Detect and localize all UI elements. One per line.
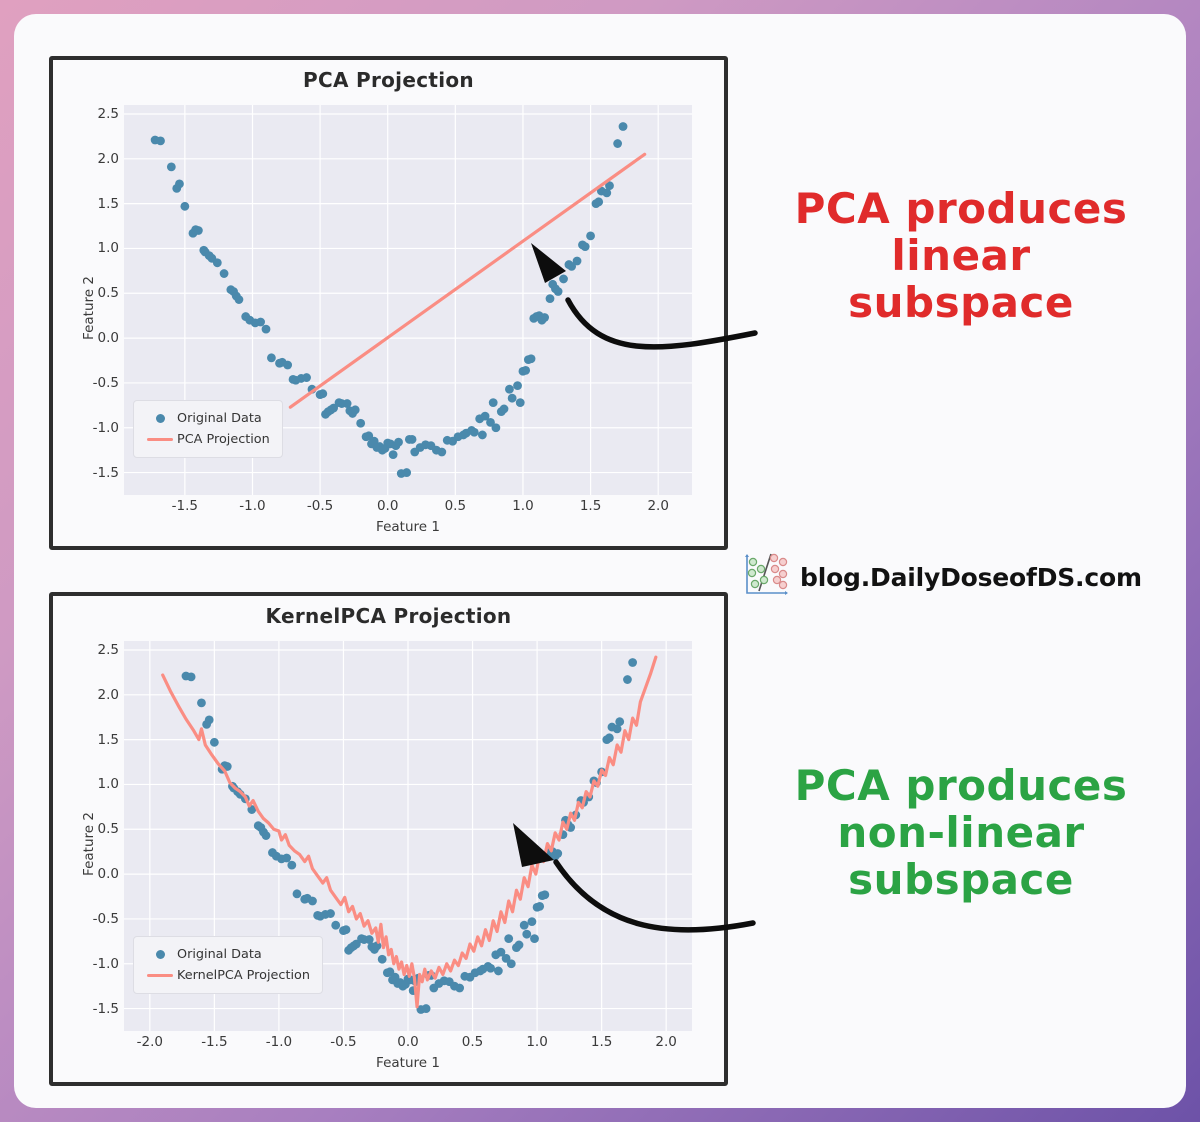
x-tick-label: -2.0 bbox=[120, 1034, 180, 1050]
data-point bbox=[573, 257, 582, 266]
data-point bbox=[180, 202, 189, 211]
pca-projection-chart-panel: PCA Projection Feature 2 2.52.01.51.00.5… bbox=[49, 56, 728, 550]
annotation-line: PCA produces bbox=[742, 185, 1180, 232]
annotation-line: non-linear bbox=[742, 809, 1180, 856]
legend-item: Original Data bbox=[143, 408, 270, 429]
y-tick-label: 0.0 bbox=[73, 330, 119, 346]
scatter-dot-icon bbox=[143, 414, 177, 423]
data-point bbox=[455, 984, 464, 993]
x-tick-label: 1.5 bbox=[572, 1034, 632, 1050]
line-swatch-icon bbox=[143, 438, 177, 441]
x-tick-label: 0.5 bbox=[443, 1034, 503, 1050]
data-point bbox=[628, 658, 637, 667]
x-tick-label: 0.0 bbox=[378, 1034, 438, 1050]
data-point bbox=[287, 861, 296, 870]
data-point bbox=[623, 675, 632, 684]
y-tick-label: 0.5 bbox=[73, 821, 119, 837]
data-point bbox=[594, 197, 603, 206]
x-tick-label: 0.5 bbox=[425, 498, 485, 514]
chart-title-kernelpca: KernelPCA Projection bbox=[53, 604, 724, 628]
projection-line bbox=[290, 154, 644, 407]
y-tick-label: 2.0 bbox=[73, 687, 119, 703]
data-point bbox=[521, 366, 530, 375]
data-point bbox=[326, 909, 335, 918]
data-point bbox=[220, 269, 229, 278]
x-axis-label-pca: Feature 1 bbox=[124, 519, 692, 535]
data-point bbox=[535, 902, 544, 911]
data-point bbox=[213, 258, 222, 267]
data-point bbox=[293, 889, 302, 898]
annotation-line: subspace bbox=[742, 279, 1180, 326]
y-axis-ticks-kernelpca: 2.52.01.51.00.50.0-0.5-1.0-1.5 bbox=[65, 641, 119, 1031]
watermark-text: blog.DailyDoseofDS.com bbox=[800, 563, 1142, 592]
legend-item: PCA Projection bbox=[143, 429, 270, 450]
data-point bbox=[187, 672, 196, 681]
data-point bbox=[515, 941, 524, 950]
y-tick-label: 1.5 bbox=[73, 196, 119, 212]
data-point bbox=[516, 398, 525, 407]
scatter-classifier-icon bbox=[742, 552, 790, 602]
legend-pca: Original Data PCA Projection bbox=[133, 400, 283, 458]
y-axis-ticks-pca: 2.52.01.51.00.50.0-0.5-1.0-1.5 bbox=[65, 105, 119, 495]
data-point bbox=[394, 438, 403, 447]
data-point bbox=[283, 361, 292, 370]
x-tick-label: 1.0 bbox=[493, 498, 553, 514]
legend-item: KernelPCA Projection bbox=[143, 965, 310, 986]
scatter-dot-icon bbox=[143, 950, 177, 959]
data-point bbox=[507, 959, 516, 968]
data-point bbox=[508, 394, 517, 403]
data-point bbox=[356, 419, 365, 428]
data-point bbox=[342, 925, 351, 934]
data-point bbox=[559, 275, 568, 284]
data-point bbox=[540, 890, 549, 899]
data-point bbox=[522, 930, 531, 939]
data-point bbox=[197, 698, 206, 707]
annotation-nonlinear-subspace: PCA producesnon-linearsubspace bbox=[742, 762, 1180, 903]
data-point bbox=[167, 162, 176, 171]
legend-label: Original Data bbox=[177, 411, 262, 426]
x-tick-label: -1.5 bbox=[155, 498, 215, 514]
data-point bbox=[505, 385, 514, 394]
y-tick-label: 1.0 bbox=[73, 240, 119, 256]
data-point bbox=[613, 139, 622, 148]
y-tick-label: -1.5 bbox=[73, 465, 119, 481]
legend-label: Original Data bbox=[177, 947, 262, 962]
line-swatch-icon bbox=[143, 974, 177, 977]
data-point bbox=[553, 849, 562, 858]
y-tick-label: 1.5 bbox=[73, 732, 119, 748]
data-point bbox=[605, 733, 614, 742]
data-point bbox=[262, 831, 271, 840]
data-point bbox=[378, 955, 387, 964]
data-point bbox=[586, 231, 595, 240]
annotation-line: PCA produces bbox=[742, 762, 1180, 809]
data-point bbox=[494, 967, 503, 976]
x-tick-label: -1.0 bbox=[222, 498, 282, 514]
data-point bbox=[500, 405, 509, 414]
data-point bbox=[492, 423, 501, 432]
y-tick-label: 2.0 bbox=[73, 151, 119, 167]
y-tick-label: 0.0 bbox=[73, 866, 119, 882]
x-tick-label: 2.0 bbox=[636, 1034, 696, 1050]
data-point bbox=[256, 318, 265, 327]
data-point bbox=[235, 295, 244, 304]
legend-kernelpca: Original Data KernelPCA Projection bbox=[133, 936, 323, 994]
data-point bbox=[308, 897, 317, 906]
chart-title-pca: PCA Projection bbox=[53, 68, 724, 92]
data-point bbox=[489, 398, 498, 407]
x-tick-label: -0.5 bbox=[290, 498, 350, 514]
x-axis-label-kernelpca: Feature 1 bbox=[124, 1055, 692, 1071]
data-point bbox=[267, 353, 276, 362]
data-point bbox=[156, 136, 165, 145]
y-tick-label: -1.0 bbox=[73, 420, 119, 436]
x-tick-label: -1.5 bbox=[184, 1034, 244, 1050]
data-point bbox=[527, 354, 536, 363]
legend-item: Original Data bbox=[143, 944, 310, 965]
x-tick-label: 1.0 bbox=[507, 1034, 567, 1050]
data-point bbox=[554, 287, 563, 296]
x-tick-label: -0.5 bbox=[313, 1034, 373, 1050]
y-tick-label: -0.5 bbox=[73, 911, 119, 927]
data-point bbox=[262, 325, 271, 334]
data-point bbox=[402, 468, 411, 477]
data-point bbox=[422, 1004, 431, 1013]
annotation-line: subspace bbox=[742, 856, 1180, 903]
data-point bbox=[581, 242, 590, 251]
data-point bbox=[389, 450, 398, 459]
data-point bbox=[520, 921, 529, 930]
data-point bbox=[351, 405, 360, 414]
kernelpca-projection-chart-panel: KernelPCA Projection Feature 2 2.52.01.5… bbox=[49, 592, 728, 1086]
data-point bbox=[540, 313, 549, 322]
y-tick-label: -0.5 bbox=[73, 375, 119, 391]
data-point bbox=[408, 435, 417, 444]
y-tick-label: 1.0 bbox=[73, 776, 119, 792]
x-tick-label: 0.0 bbox=[358, 498, 418, 514]
data-point bbox=[470, 428, 479, 437]
data-point bbox=[513, 381, 522, 390]
x-tick-label: 2.0 bbox=[628, 498, 688, 514]
data-point bbox=[528, 917, 537, 926]
legend-label: PCA Projection bbox=[177, 432, 270, 447]
data-point bbox=[437, 448, 446, 457]
data-point bbox=[619, 122, 628, 131]
data-point bbox=[175, 179, 184, 188]
data-point bbox=[205, 715, 214, 724]
y-tick-label: -1.5 bbox=[73, 1001, 119, 1017]
data-point bbox=[282, 854, 291, 863]
y-tick-label: 0.5 bbox=[73, 285, 119, 301]
data-point bbox=[486, 964, 495, 973]
x-tick-label: -1.0 bbox=[249, 1034, 309, 1050]
data-point bbox=[530, 934, 539, 943]
data-point bbox=[210, 738, 219, 747]
data-point bbox=[318, 389, 327, 398]
data-point bbox=[302, 373, 311, 382]
data-point bbox=[194, 226, 203, 235]
data-point bbox=[331, 921, 340, 930]
data-point bbox=[615, 717, 624, 726]
data-point bbox=[504, 934, 513, 943]
watermark: blog.DailyDoseofDS.com bbox=[742, 552, 1142, 602]
annotation-line: linear bbox=[742, 232, 1180, 279]
annotation-linear-subspace: PCA produceslinearsubspace bbox=[742, 185, 1180, 326]
data-point bbox=[478, 431, 487, 440]
y-tick-label: -1.0 bbox=[73, 956, 119, 972]
x-tick-label: 1.5 bbox=[561, 498, 621, 514]
data-point bbox=[546, 294, 555, 303]
legend-label: KernelPCA Projection bbox=[177, 968, 310, 983]
y-tick-label: 2.5 bbox=[73, 106, 119, 122]
y-tick-label: 2.5 bbox=[73, 642, 119, 658]
content-card: PCA Projection Feature 2 2.52.01.51.00.5… bbox=[14, 14, 1186, 1108]
